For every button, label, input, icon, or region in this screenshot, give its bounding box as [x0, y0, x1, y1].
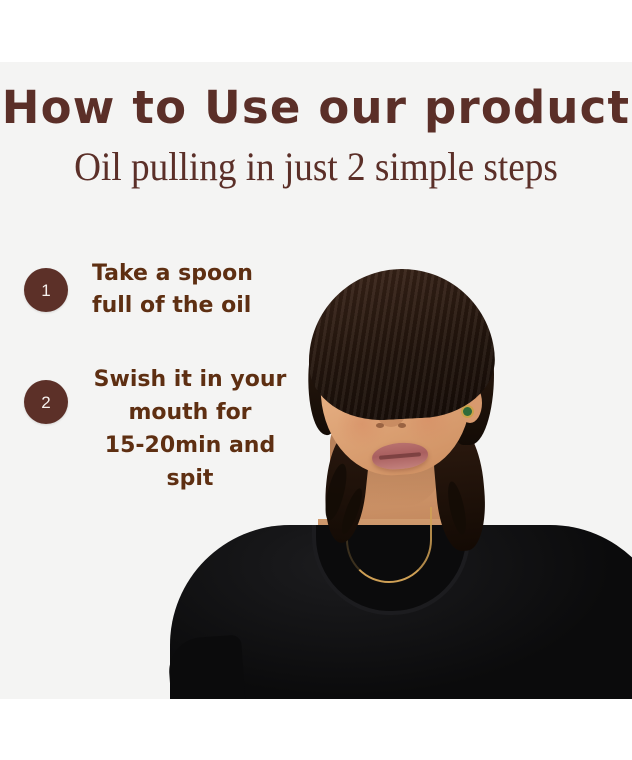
page-subtitle: Oil pulling in just 2 simple steps	[22, 144, 610, 190]
step-item-1: 1 Take a spoon full of the oil	[24, 258, 262, 322]
step-number-badge-1: 1	[24, 268, 68, 312]
step-item-2: 2 Swish it in your mouth for 15-20min an…	[24, 363, 290, 495]
content-panel: How to Use our product Oil pulling in ju…	[0, 62, 632, 699]
how-to-use-poster: How to Use our product Oil pulling in ju…	[0, 0, 632, 760]
step-text-1: Take a spoon full of the oil	[92, 258, 262, 322]
nostril-right	[398, 423, 406, 428]
step-number-badge-2: 2	[24, 380, 68, 424]
step-text-2: Swish it in your mouth for 15-20min and …	[90, 363, 290, 495]
hair-top	[304, 264, 498, 424]
nostril-left	[376, 423, 384, 428]
earring-icon	[463, 407, 472, 416]
page-title: How to Use our product	[0, 82, 632, 134]
